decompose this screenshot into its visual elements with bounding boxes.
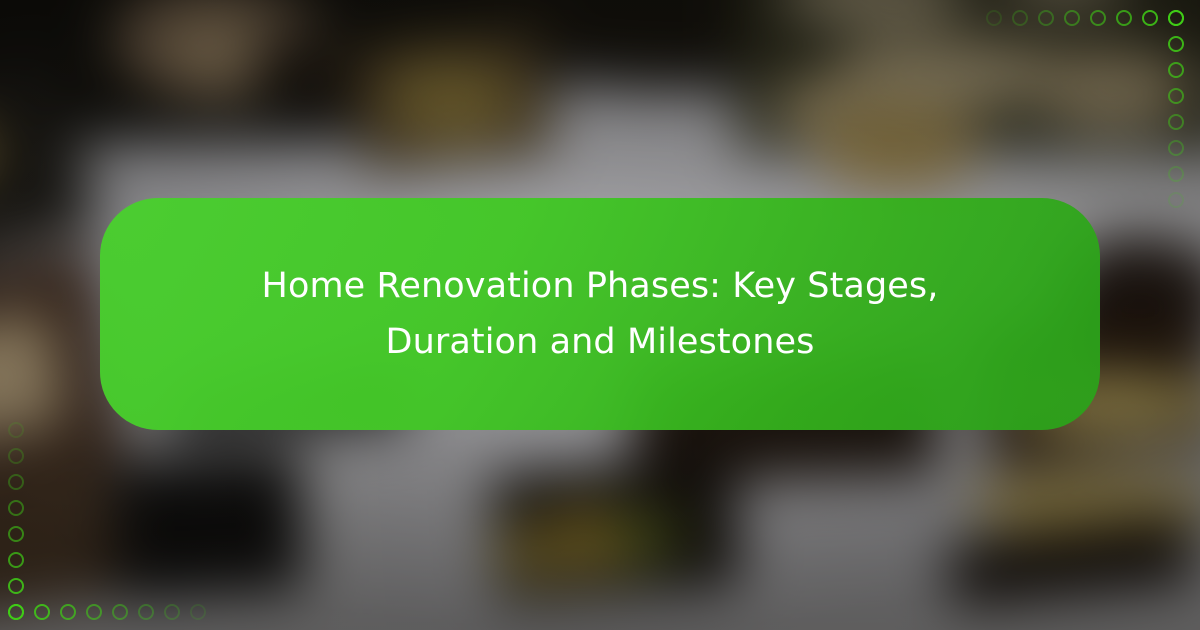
- decor-circle-icon: [112, 604, 128, 620]
- page-title: Home Renovation Phases: Key Stages, Dura…: [205, 258, 995, 370]
- decor-circle-icon: [190, 604, 206, 620]
- decor-circle-icon: [60, 604, 76, 620]
- decor-circle-icon: [34, 604, 50, 620]
- decor-circle-icon: [86, 604, 102, 620]
- social-share-card: Home Renovation Phases: Key Stages, Dura…: [0, 0, 1200, 630]
- decor-circle-icon: [8, 604, 24, 620]
- title-plate: Home Renovation Phases: Key Stages, Dura…: [100, 198, 1100, 430]
- decor-circle-icon: [138, 604, 154, 620]
- decor-circle-icon: [164, 604, 180, 620]
